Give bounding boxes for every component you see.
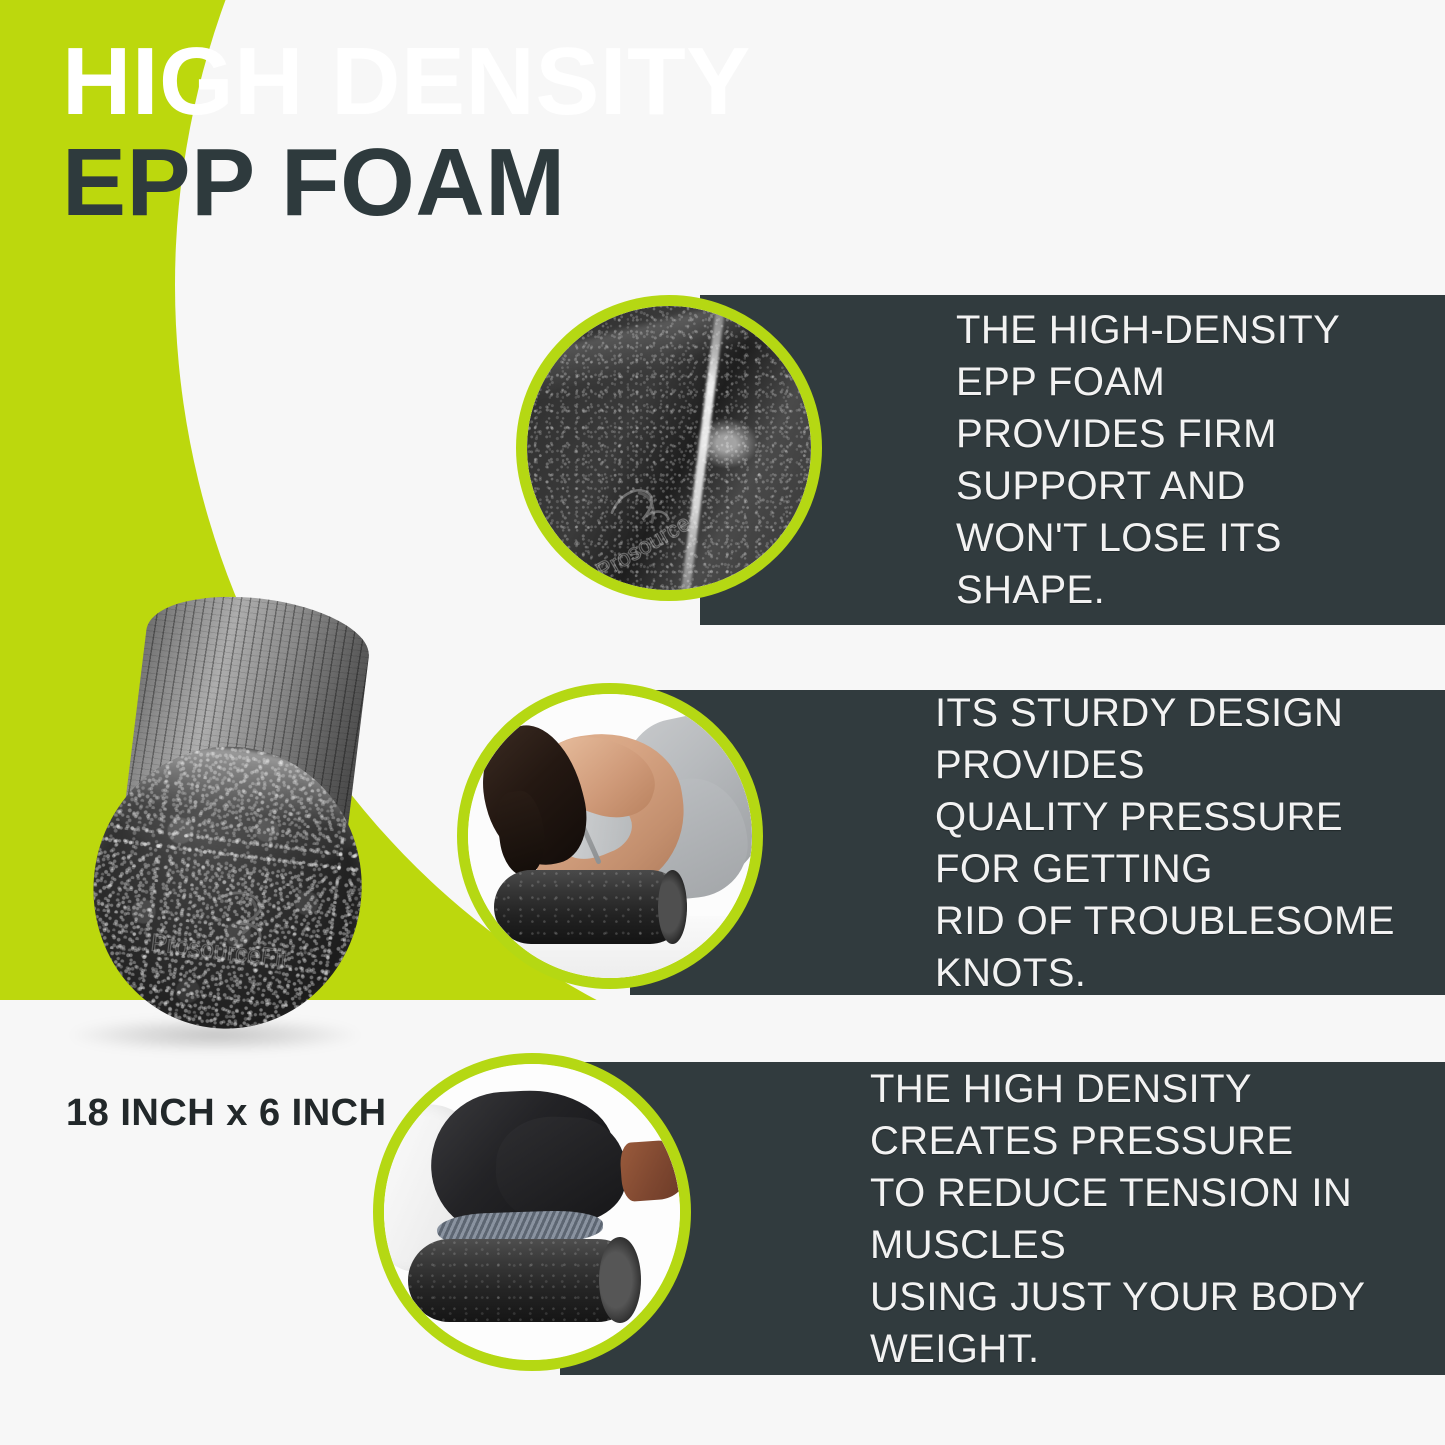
model-leg-skin	[619, 1139, 680, 1203]
legs-on-roller-scene	[384, 1064, 680, 1360]
feature-3-text: THE HIGH DENSITY CREATES PRESSURE TO RED…	[870, 1063, 1445, 1375]
feature-3-photo-circle	[373, 1053, 691, 1371]
feature-2-photo-circle	[457, 683, 763, 989]
feature-2-text: ITS STURDY DESIGN PROVIDES QUALITY PRESS…	[935, 687, 1445, 999]
product-hero-image: ProsourceFit	[52, 596, 392, 1058]
back-stretch-photo	[468, 694, 752, 978]
foam-closeup-photo: Prosource	[527, 306, 811, 590]
feature-panel-3: THE HIGH DENSITY CREATES PRESSURE TO RED…	[560, 1062, 1445, 1375]
legs-on-roller-photo	[384, 1064, 680, 1360]
prosourcefit-logo-icon: ProsourceFit	[141, 862, 325, 995]
feature-1-photo-circle: Prosource	[516, 295, 822, 601]
page-title: HIGH DENSITY EPP FOAM	[62, 36, 751, 228]
headline-line-2: EPP FOAM	[62, 137, 751, 228]
product-dimension-label: 18 INCH x 6 INCH	[66, 1092, 387, 1135]
infographic-canvas: HIGH DENSITY EPP FOAM THE HIGH-DENSITY E…	[0, 0, 1445, 1445]
back-stretch-scene	[468, 694, 752, 978]
foam-roller-body: ProsourceFit	[83, 583, 396, 999]
model-black-shorts-fold	[495, 1115, 629, 1226]
foam-roller-end-cap: ProsourceFit	[77, 731, 377, 1044]
foam-roller-under-legs	[408, 1239, 639, 1322]
foam-roller-under-back	[494, 870, 687, 944]
headline-line-1: HIGH DENSITY	[62, 36, 751, 127]
svg-text:ProsourceFit: ProsourceFit	[149, 930, 289, 974]
feature-1-text: THE HIGH-DENSITY EPP FOAM PROVIDES FIRM …	[956, 304, 1445, 616]
